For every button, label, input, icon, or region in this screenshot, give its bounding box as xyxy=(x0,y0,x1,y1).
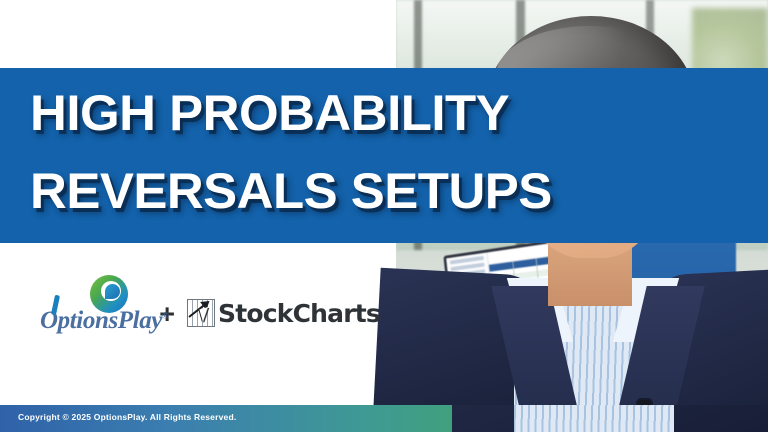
copyright-text: Copyright © 2025 OptionsPlay. All Rights… xyxy=(18,412,236,422)
stockcharts-grid-arrow-logo-icon xyxy=(187,299,215,327)
footer-subject-overlap xyxy=(452,405,768,432)
cursor-icon xyxy=(199,307,211,322)
shirt-overlap xyxy=(514,405,674,432)
optionsplay-wordmark: OptionsPlay® xyxy=(40,307,168,335)
page-title-line-1: HIGH PROBABILITY xyxy=(30,74,509,152)
stockcharts-logo: StockCharts xyxy=(187,299,380,328)
video-thumbnail: HIGH PROBABILITY REVERSALS SETUPS Option… xyxy=(0,0,768,432)
logo-row: OptionsPlay® + StockCharts xyxy=(40,272,380,340)
page-title-line-2: REVERSALS SETUPS xyxy=(30,152,509,230)
registered-trademark-icon: ® xyxy=(162,311,168,321)
optionsplay-wordmark-text: OptionsPlay xyxy=(40,307,162,334)
stockcharts-wordmark: StockCharts xyxy=(218,299,380,328)
optionsplay-logo: OptionsPlay® xyxy=(40,275,145,337)
title-band: HIGH PROBABILITY REVERSALS SETUPS xyxy=(0,68,768,243)
